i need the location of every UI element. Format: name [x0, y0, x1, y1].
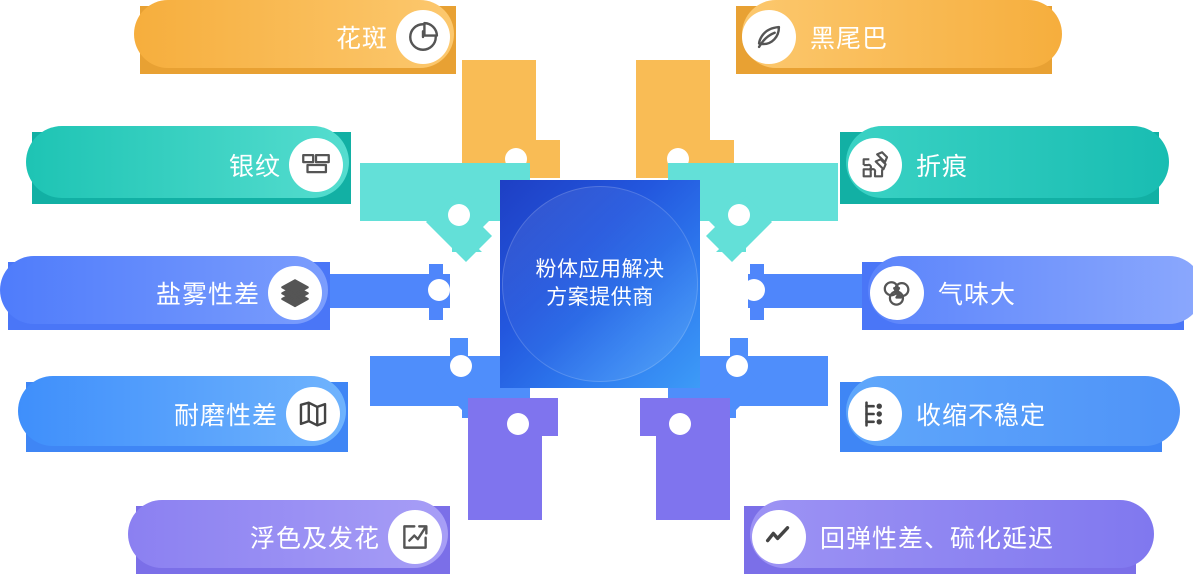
connector-n10 [640, 398, 730, 520]
node-n8-label: 收缩不稳定 [916, 396, 1046, 432]
puzzle-icon [848, 138, 902, 192]
line-chart-icon [752, 510, 806, 564]
node-n10-label: 回弹性差、硫化延迟 [820, 519, 1054, 555]
node-n1-label: 花斑 [336, 19, 388, 55]
connector-n6 [743, 264, 868, 320]
node-n6[interactable]: 气味大 [862, 256, 1193, 330]
node-n3-label: 银纹 [229, 147, 281, 183]
connector-n9 [468, 398, 558, 520]
connector-n5 [330, 264, 450, 320]
recycle-icon [870, 266, 924, 320]
hub-title: 粉体应用解决 方案提供商 [536, 256, 665, 311]
node-n7-label: 耐磨性差 [174, 396, 278, 432]
trend-up-icon [388, 510, 442, 564]
node-n9[interactable]: 浮色及发花 [128, 500, 450, 574]
node-n4[interactable]: 折痕 [840, 126, 1165, 204]
node-n5[interactable]: 盐雾性差 [0, 256, 330, 330]
node-n8[interactable]: 收缩不稳定 [840, 376, 1170, 452]
brick-wall-icon [289, 138, 343, 192]
node-n6-label: 气味大 [938, 275, 1016, 311]
layers-icon [268, 266, 322, 320]
node-n5-label: 盐雾性差 [156, 275, 260, 311]
sitemap-icon [848, 387, 902, 441]
center-hub[interactable]: 粉体应用解决 方案提供商 [500, 180, 700, 388]
leaf-icon [742, 10, 796, 64]
node-n9-label: 浮色及发花 [250, 519, 380, 555]
open-book-icon [286, 387, 340, 441]
node-n3[interactable]: 银纹 [26, 126, 351, 204]
diagram-canvas: 粉体应用解决 方案提供商 花斑 黑尾巴 银纹 [0, 0, 1193, 577]
node-n4-label: 折痕 [916, 147, 968, 183]
node-n7[interactable]: 耐磨性差 [18, 376, 348, 452]
node-n10[interactable]: 回弹性差、硫化延迟 [744, 500, 1144, 574]
node-n2[interactable]: 黑尾巴 [736, 0, 1058, 74]
node-n1[interactable]: 花斑 [134, 0, 456, 74]
pie-chart-icon [396, 10, 450, 64]
node-n2-label: 黑尾巴 [810, 19, 888, 55]
